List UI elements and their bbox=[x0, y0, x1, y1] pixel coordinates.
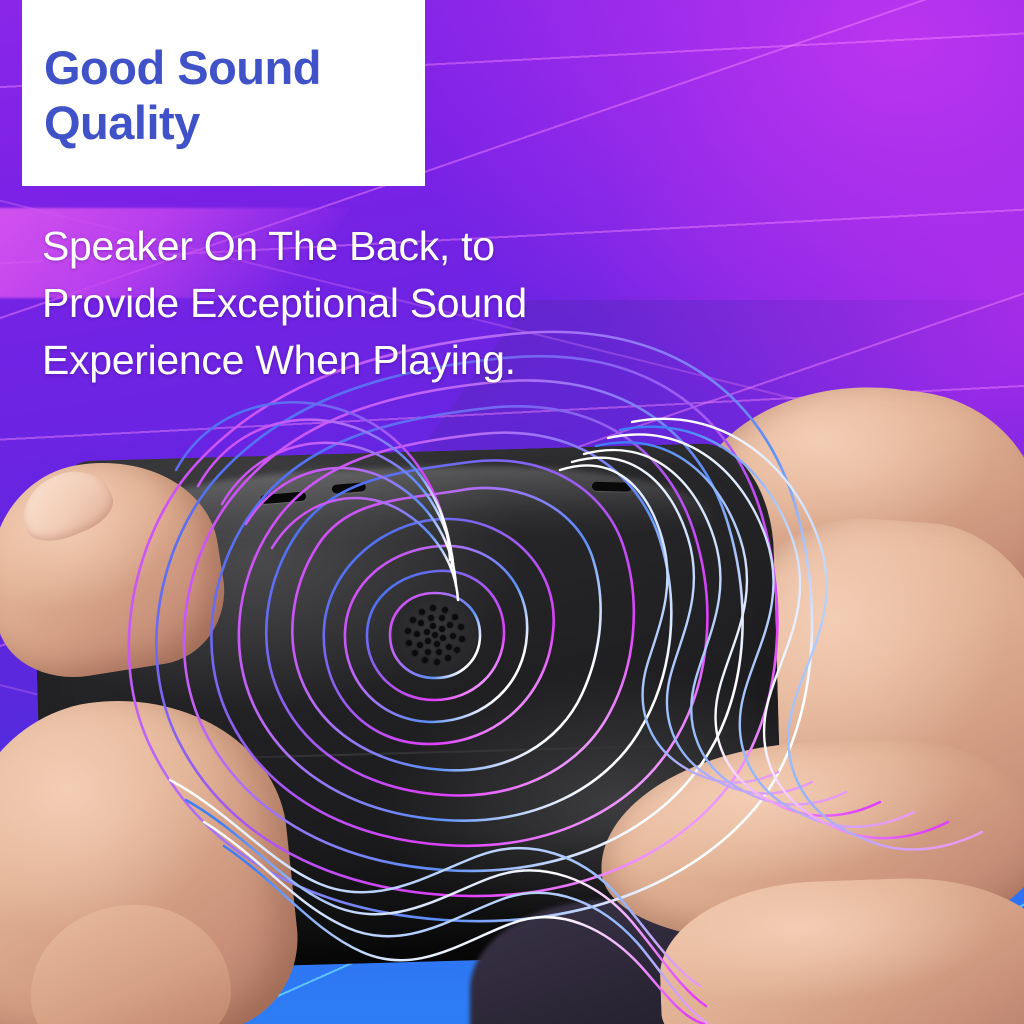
subtitle-text: Speaker On The Back, to Provide Exceptio… bbox=[42, 218, 642, 389]
page-title: Good Sound Quality bbox=[44, 40, 321, 150]
title-card: Good Sound Quality bbox=[22, 0, 425, 186]
promo-banner: Good Sound Quality Speaker On The Back, … bbox=[0, 0, 1024, 1024]
